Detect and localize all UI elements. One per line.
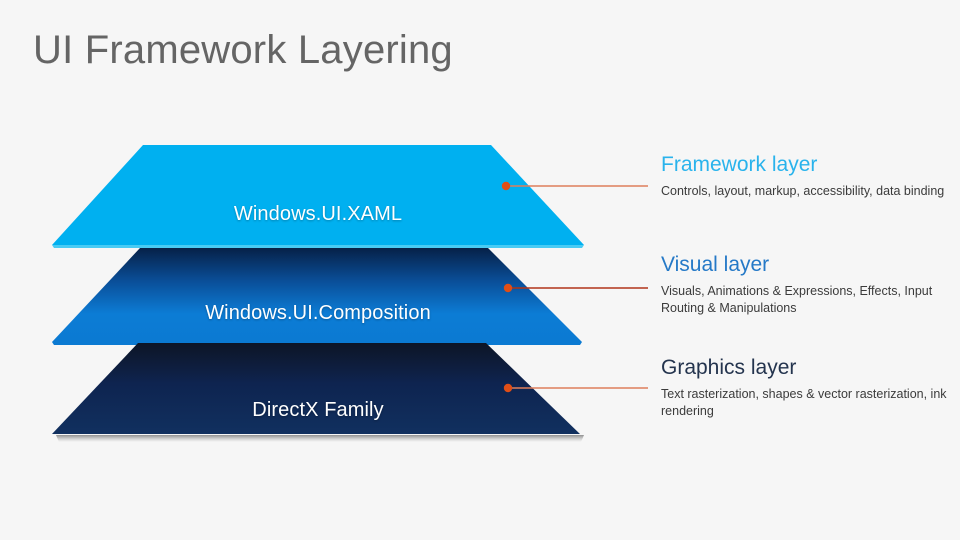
- annotation-visual-title: Visual layer: [661, 253, 951, 277]
- annotation-framework: Framework layer Controls, layout, markup…: [661, 153, 951, 200]
- connector-dot-framework-icon: [502, 182, 510, 190]
- connector-dot-graphics-icon: [504, 384, 512, 392]
- annotation-graphics-title: Graphics layer: [661, 356, 951, 380]
- annotation-framework-title: Framework layer: [661, 153, 951, 177]
- connector-dot-visual-icon: [504, 284, 512, 292]
- layer-framework-shape: [44, 141, 592, 249]
- annotation-framework-description: Controls, layout, markup, accessibility,…: [661, 183, 951, 200]
- layer-visual-shape: [44, 244, 592, 346]
- annotation-graphics-description: Text rasterization, shapes & vector rast…: [661, 386, 951, 419]
- layer-framework[interactable]: Windows.UI.XAML: [44, 141, 592, 249]
- connector-line-framework: [498, 179, 650, 193]
- annotation-graphics: Graphics layer Text rasterization, shape…: [661, 356, 951, 419]
- annotation-visual-description: Visuals, Animations & Expressions, Effec…: [661, 283, 951, 316]
- connector-line-visual: [500, 281, 650, 295]
- connector-line-graphics: [500, 381, 650, 395]
- layer-visual[interactable]: Windows.UI.Composition: [44, 244, 592, 346]
- annotation-visual: Visual layer Visuals, Animations & Expre…: [661, 253, 951, 316]
- slide-canvas: UI Framework Layering Windows.UI.XAML: [0, 0, 960, 540]
